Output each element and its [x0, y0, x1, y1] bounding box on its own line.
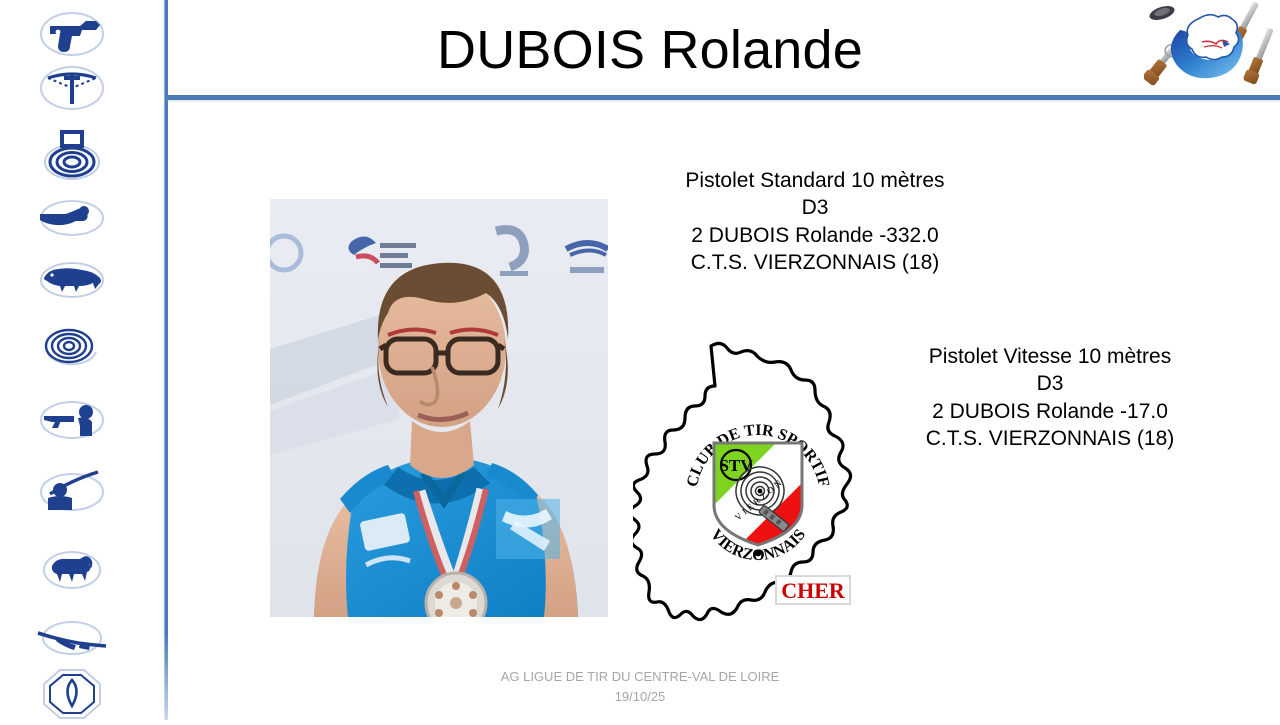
result-line: 2 DUBOIS Rolande -17.0 — [890, 398, 1210, 425]
club-label: C.T.S. VIERZONNAIS (18) — [890, 425, 1210, 452]
rifle-icon — [36, 610, 108, 666]
result-block-vitesse: Pistolet Vitesse 10 mètres D3 2 DUBOIS R… — [890, 343, 1210, 452]
cher-map-icon: CLUB DE TIR SPORTIF VIERZONNAIS — [633, 328, 883, 658]
sidebar-item-pistol-shooter[interactable] — [33, 389, 111, 451]
discipline-label: Pistolet Standard 10 mètres — [650, 167, 980, 194]
footer-date: 19/10/25 — [400, 687, 880, 707]
department-label-text: CHER — [781, 578, 846, 603]
category-label: D3 — [890, 370, 1210, 397]
vertical-divider-highlight — [164, 0, 165, 720]
result-block-standard: Pistolet Standard 10 mètres D3 2 DUBOIS … — [650, 167, 980, 276]
slide-canvas: DUBOIS Rolande — [0, 0, 1280, 720]
boar-icon — [36, 252, 108, 308]
department-label: CHER — [776, 576, 850, 604]
slide-footer: AG LIGUE DE TIR DU CENTRE-VAL DE LOIRE 1… — [400, 667, 880, 707]
footer-event: AG LIGUE DE TIR DU CENTRE-VAL DE LOIRE — [400, 667, 880, 687]
page-title: DUBOIS Rolande — [200, 14, 1100, 86]
sidebar-item-crossbow[interactable] — [33, 57, 111, 119]
horizontal-divider-shadow — [166, 100, 1280, 103]
ram-icon — [36, 542, 108, 598]
octagon-target-icon — [36, 666, 108, 722]
category-label: D3 — [650, 194, 980, 221]
sidebar-item-rifle-shooter[interactable] — [33, 461, 111, 523]
athlete-photo-image — [270, 199, 608, 617]
rifle-bottom-icon — [1243, 26, 1276, 85]
crossbow-icon — [36, 60, 108, 116]
clay-disc-icon — [1148, 3, 1176, 22]
prone-shooter-icon — [36, 190, 108, 246]
cher-department-map: CLUB DE TIR SPORTIF VIERZONNAIS — [633, 328, 883, 658]
pistol-shooter-icon — [36, 392, 108, 448]
pistol-icon — [36, 6, 108, 62]
athlete-photo — [270, 199, 608, 617]
result-line: 2 DUBOIS Rolande -332.0 — [650, 222, 980, 249]
sidebar-item-pistol[interactable] — [33, 3, 111, 65]
sidebar-item-ram[interactable] — [33, 539, 111, 601]
ligue-logo-icon — [1144, 0, 1276, 94]
target-stand-icon — [36, 128, 108, 184]
club-label: C.T.S. VIERZONNAIS (18) — [650, 249, 980, 276]
target-rings-icon — [36, 320, 108, 376]
club-monogram: STV — [719, 456, 753, 475]
sidebar-item-octagon-target[interactable] — [33, 663, 111, 725]
sidebar-item-rifle[interactable] — [33, 607, 111, 669]
discipline-label: Pistolet Vitesse 10 mètres — [890, 343, 1210, 370]
sidebar — [0, 0, 166, 720]
sidebar-item-target-stand[interactable] — [33, 125, 111, 187]
rifle-shooter-icon — [36, 464, 108, 520]
ligue-logo — [1144, 0, 1276, 94]
sidebar-item-boar[interactable] — [33, 249, 111, 311]
sidebar-item-target-rings[interactable] — [33, 317, 111, 379]
region-map-icon — [1187, 15, 1239, 60]
sidebar-item-prone-shooter[interactable] — [33, 187, 111, 249]
